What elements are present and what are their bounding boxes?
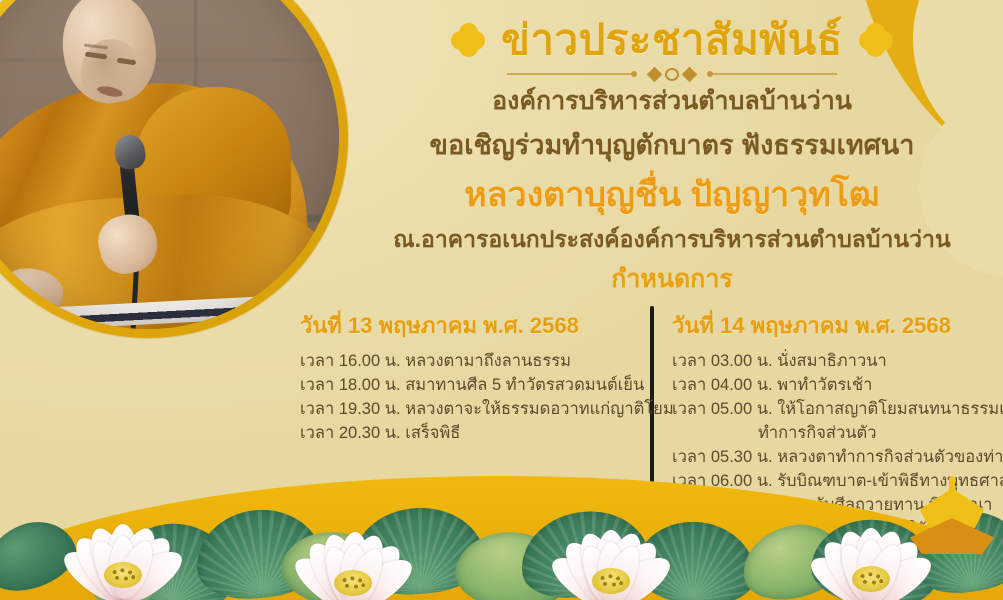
poster-canvas: ข่าวประชาสัมพันธ์ องค์การบริหารส่วนตำบลบ… — [0, 0, 1003, 600]
schedule-item: เวลา 03.00 น. นั่งสมาธิภาวนา — [672, 349, 1003, 373]
schedule-item: เวลา 16.00 น. หลวงตามาถึงลานธรรม — [300, 349, 630, 373]
schedule-continuation-text: ทำการกิจส่วนตัว — [672, 421, 1003, 445]
page-title: ข่าวประชาสัมพันธ์ — [501, 18, 843, 62]
title-row: ข่าวประชาสัมพันธ์ — [352, 18, 992, 62]
quatrefoil-ornament-right-icon — [859, 23, 893, 57]
schedule-item: เวลา 18.00 น. สมาทานศีล 5 ทำวัตรสวดมนต์เ… — [300, 373, 630, 397]
lotus-flower-icon — [796, 486, 946, 600]
schedule-item: เวลา 20.30 น. เสร็จพิธี — [300, 421, 630, 445]
quatrefoil-ornament-left-icon — [451, 23, 485, 57]
monk-portrait-photo — [0, 0, 339, 329]
lotus-flower-icon — [278, 490, 428, 600]
venue-text: ณ.อาคารอเนกประสงค์องค์การบริหารส่วนตำบลบ… — [352, 225, 992, 255]
invitation-text: ขอเชิญร่วมทำบุญตักบาตร ฟังธรรมเทศนา — [352, 128, 992, 163]
day2-heading: วันที่ 14 พฤษภาคม พ.ศ. 2568 — [672, 308, 1003, 343]
organization-name: องค์การบริหารส่วนตำบลบ้านว่าน — [352, 85, 992, 118]
title-divider-ornament — [507, 67, 837, 81]
schedule-item-continuation: ทำการกิจส่วนตัว — [672, 421, 1003, 445]
poster-header: ข่าวประชาสัมพันธ์ องค์การบริหารส่วนตำบลบ… — [352, 18, 992, 294]
agenda-label: กำหนดการ — [352, 264, 992, 294]
lotus-flower-icon — [48, 482, 198, 600]
monk-name: หลวงตาบุญชื่น ปัญญาวุทโฒ — [352, 175, 992, 216]
schedule-item: เวลา 19.30 น. หลวงตาจะให้ธรรมดอวาทแก่ญาต… — [300, 397, 630, 421]
lotus-flower-icon — [536, 488, 686, 600]
monk-photo-ring — [0, 0, 348, 338]
schedule-item: เวลา 05.00 น. ให้โอกาสญาติโยมสนทนาธรรมแล… — [672, 397, 1003, 421]
day1-heading: วันที่ 13 พฤษภาคม พ.ศ. 2568 — [300, 308, 630, 343]
schedule-item: เวลา 05.30 น. หลวงตาทำการกิจส่วนตัวของท่… — [672, 445, 1003, 469]
schedule-item: เวลา 04.00 น. พาทำวัตรเช้า — [672, 373, 1003, 397]
